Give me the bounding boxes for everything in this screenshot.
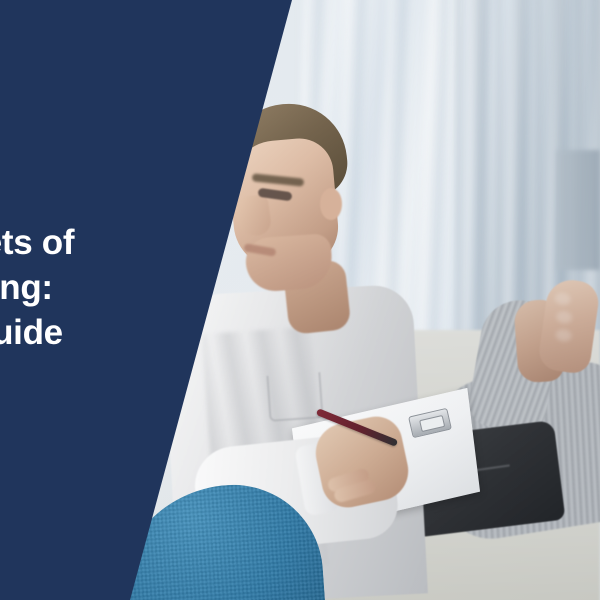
therapist-ear xyxy=(320,188,342,220)
headline-line-2: y Billing: xyxy=(0,265,228,310)
window-mullion xyxy=(556,150,600,270)
hero-banner: Secrets of y Billing: ive Guide .net xyxy=(0,0,600,600)
page-title: Secrets of y Billing: ive Guide xyxy=(0,220,228,355)
shirt-pocket xyxy=(266,372,323,422)
headline-line-1: Secrets of xyxy=(0,220,228,265)
headline-line-3: ive Guide xyxy=(0,310,228,355)
knuckle-highlight xyxy=(554,292,572,306)
knuckle-highlight xyxy=(555,310,573,324)
knuckle-highlight xyxy=(555,328,573,342)
